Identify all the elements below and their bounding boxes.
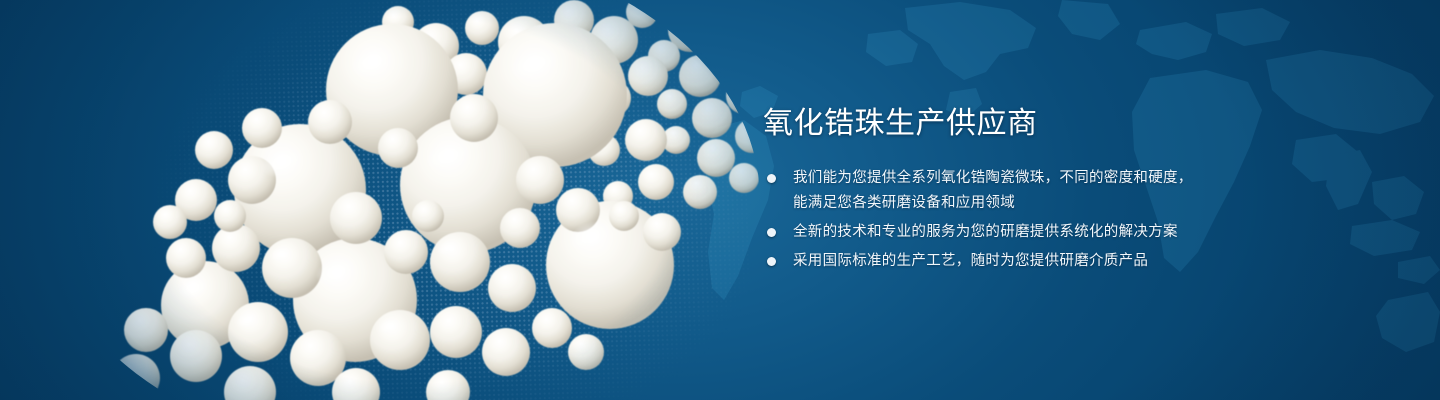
zirconia-beads-photo (0, 0, 780, 400)
feature-list: 我们能为您提供全系列氧化锆陶瓷微珠，不同的密度和硬度， 能满足您各类研磨设备和应… (763, 166, 1383, 274)
bullet-dot-icon (767, 228, 776, 237)
page-title: 氧化锆珠生产供应商 (763, 104, 1383, 144)
list-item-line1: 采用国际标准的生产工艺，随时为您提供研磨介质产品 (793, 253, 1148, 269)
bullet-dot-icon (767, 174, 776, 183)
list-item-line1: 我们能为您提供全系列氧化锆陶瓷微珠，不同的密度和硬度， (793, 170, 1193, 186)
list-item-line1: 全新的技术和专业的服务为您的研磨提供系统化的解决方案 (793, 224, 1178, 240)
bullet-dot-icon (767, 257, 776, 266)
list-item: 全新的技术和专业的服务为您的研磨提供系统化的解决方案 (763, 220, 1383, 245)
hero-banner: 氧化锆珠生产供应商 我们能为您提供全系列氧化锆陶瓷微珠，不同的密度和硬度， 能满… (0, 0, 1440, 400)
list-item: 采用国际标准的生产工艺，随时为您提供研磨介质产品 (763, 249, 1383, 274)
list-item: 我们能为您提供全系列氧化锆陶瓷微珠，不同的密度和硬度， 能满足您各类研磨设备和应… (763, 166, 1383, 216)
banner-copy: 氧化锆珠生产供应商 我们能为您提供全系列氧化锆陶瓷微珠，不同的密度和硬度， 能满… (763, 104, 1383, 278)
list-item-line2: 能满足您各类研磨设备和应用领域 (793, 191, 1383, 216)
